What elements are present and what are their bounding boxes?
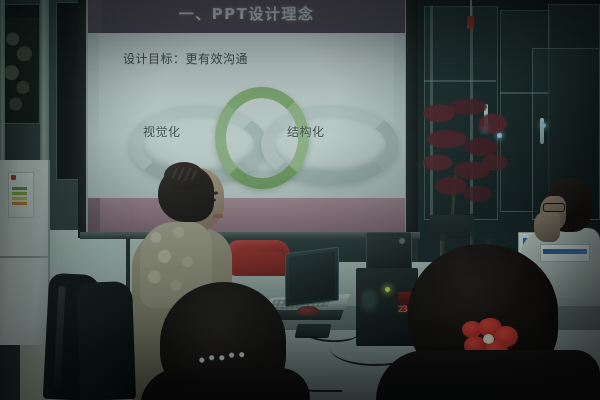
ring-label-left: 视觉化: [143, 123, 181, 140]
man-with-glasses-hand: [534, 212, 560, 242]
ring-label-right: 结构化: [287, 123, 325, 140]
speaker-cone: [358, 286, 382, 316]
laptop-lid: [285, 247, 339, 308]
office-chair-back-2: [76, 281, 136, 400]
classroom-presentation-photo: 一、PPT设计理念 设计目标：更有效沟通 视觉化 结构化: [0, 0, 600, 400]
foreground-person-right-shoulder: [376, 350, 600, 400]
slide-title: 一、PPT设计理念: [88, 3, 405, 24]
device-glint: [399, 238, 405, 244]
red-bag-fold: [238, 252, 284, 276]
ppt-slide: 一、PPT设计理念 设计目标：更有效沟通 视觉化 结构化: [88, 0, 405, 232]
flower-center: [483, 334, 494, 344]
energy-label: [8, 172, 34, 218]
window-handle-2: [540, 118, 544, 144]
slide-footer-band: [88, 198, 405, 232]
refrigerator-door-seam: [0, 256, 48, 258]
laptop-screen: [289, 251, 335, 303]
woman-lips: [213, 214, 223, 218]
seat-badge-band: [543, 249, 587, 254]
seat-badge: [540, 244, 590, 262]
foreground-person-center-shoulder: [140, 368, 310, 400]
background-knob-1: [439, 234, 446, 241]
window-mullion-horizontal-2: [500, 92, 548, 94]
background-knob-2: [469, 230, 476, 237]
plant-behind-glass: [2, 18, 38, 123]
slide-body: 设计目标：更有效沟通 视觉化 结构化: [99, 33, 394, 198]
power-led-icon: [385, 287, 390, 292]
interlocking-rings-diagram: 视觉化 结构化: [127, 85, 375, 177]
slide-footer-accent: [88, 198, 100, 232]
light-glint-3: [541, 123, 546, 128]
potted-plant-right: [418, 95, 514, 225]
refrigerator: [0, 160, 50, 345]
label-red-dot: [11, 175, 16, 180]
computer-mouse: [297, 306, 319, 316]
hanging-red-tag: [467, 16, 474, 29]
glasses-icon: [543, 203, 565, 212]
slide-subtitle: 设计目标：更有效沟通: [123, 50, 248, 67]
woman-hair-bun-texture: [170, 167, 198, 181]
window-mullion-horizontal-1: [424, 80, 496, 82]
